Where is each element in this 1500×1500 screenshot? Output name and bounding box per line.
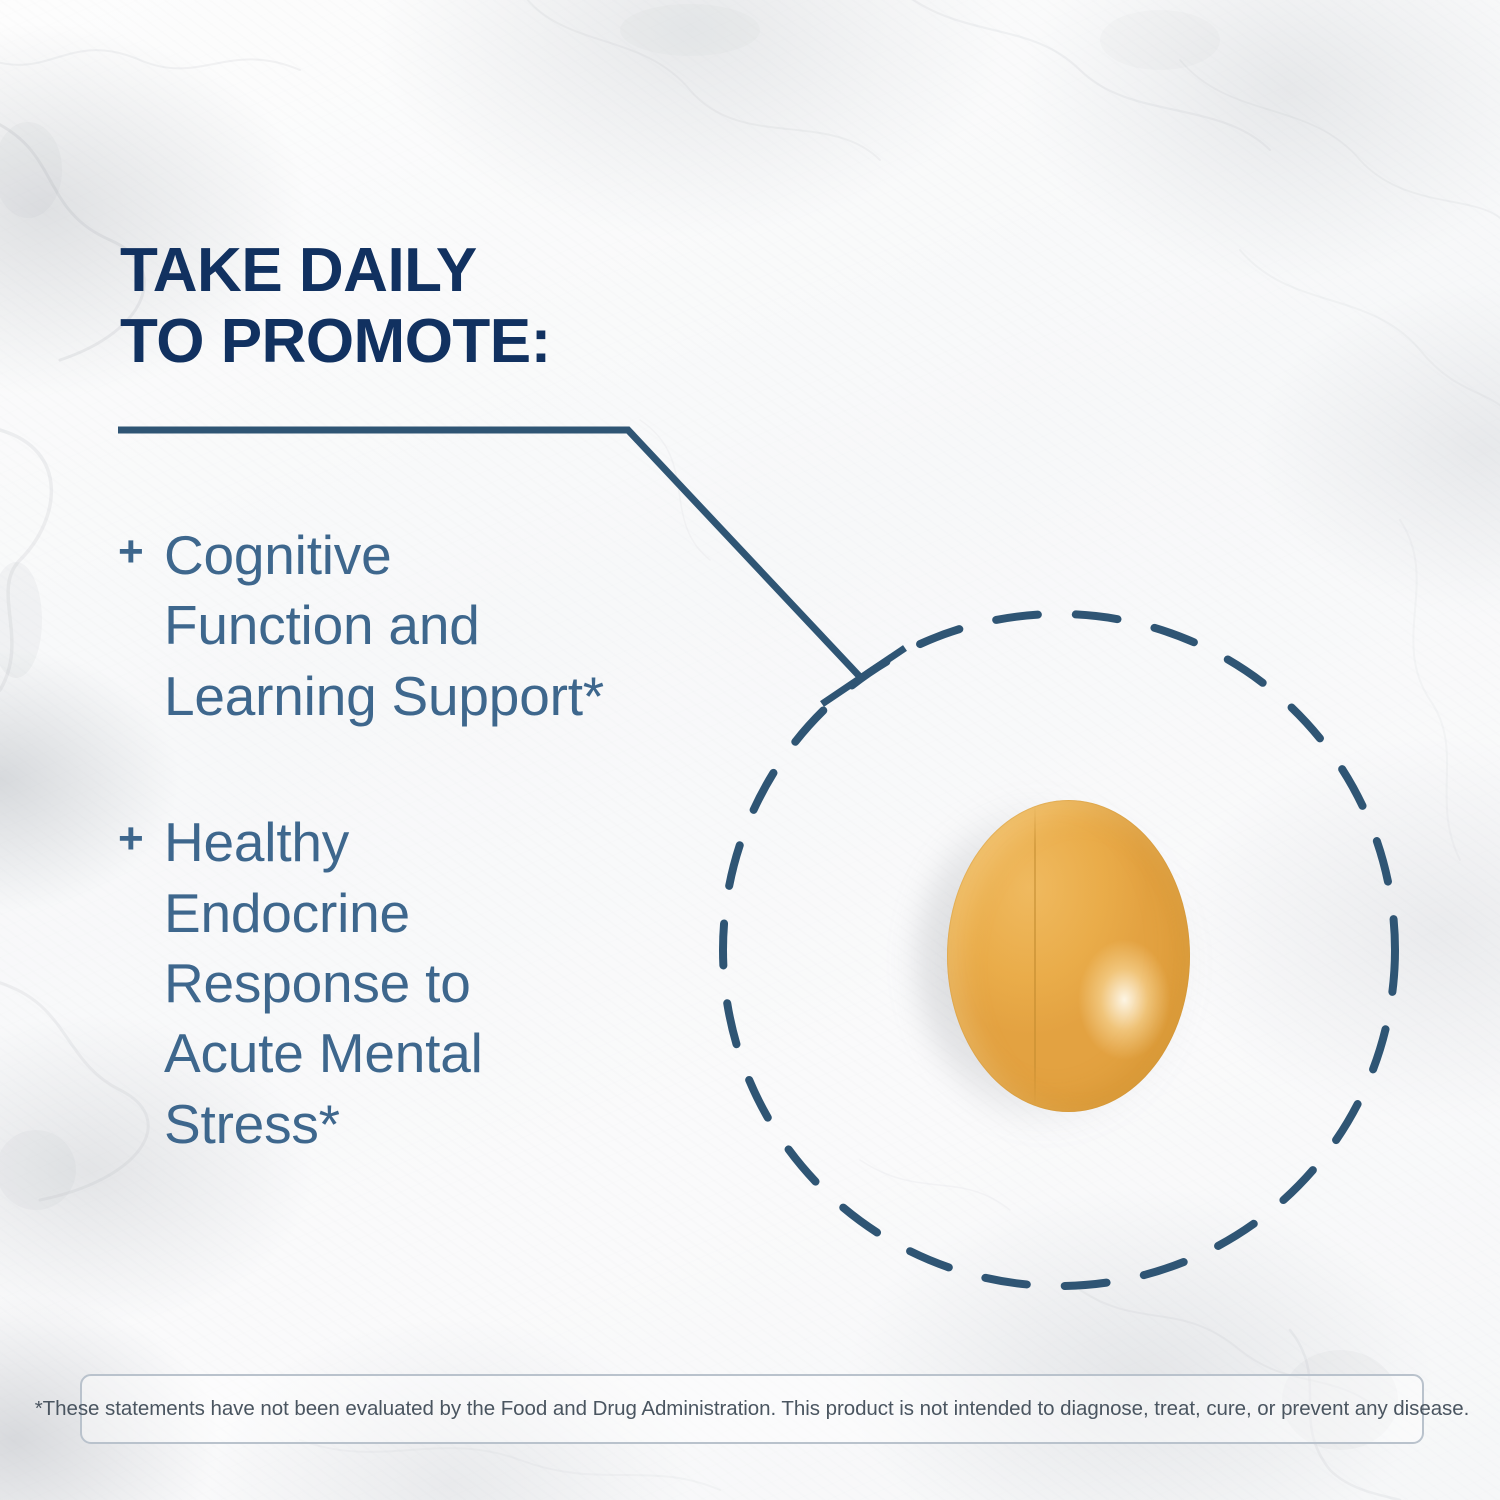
benefits-list: + Cognitive Function and Learning Suppor… <box>118 520 758 1235</box>
page-title: TAKE DAILY TO PROMOTE: <box>120 236 551 377</box>
promo-graphic: TAKE DAILY TO PROMOTE: + Cognitive Funct… <box>0 0 1500 1500</box>
disclaimer-text: *These statements have not been evaluate… <box>35 1397 1470 1422</box>
list-item: + Cognitive Function and Learning Suppor… <box>118 520 758 731</box>
plus-icon: + <box>118 807 164 861</box>
benefit-text: Healthy Endocrine Response to Acute Ment… <box>164 807 758 1159</box>
list-item: + Healthy Endocrine Response to Acute Me… <box>118 807 758 1159</box>
amber-softgel-capsule <box>947 800 1190 1112</box>
benefit-text: Cognitive Function and Learning Support* <box>164 520 758 731</box>
plus-icon: + <box>118 520 164 574</box>
product-callout <box>719 610 1399 1290</box>
capsule-rim <box>947 800 1190 1112</box>
disclaimer-box: *These statements have not been evaluate… <box>80 1374 1424 1444</box>
